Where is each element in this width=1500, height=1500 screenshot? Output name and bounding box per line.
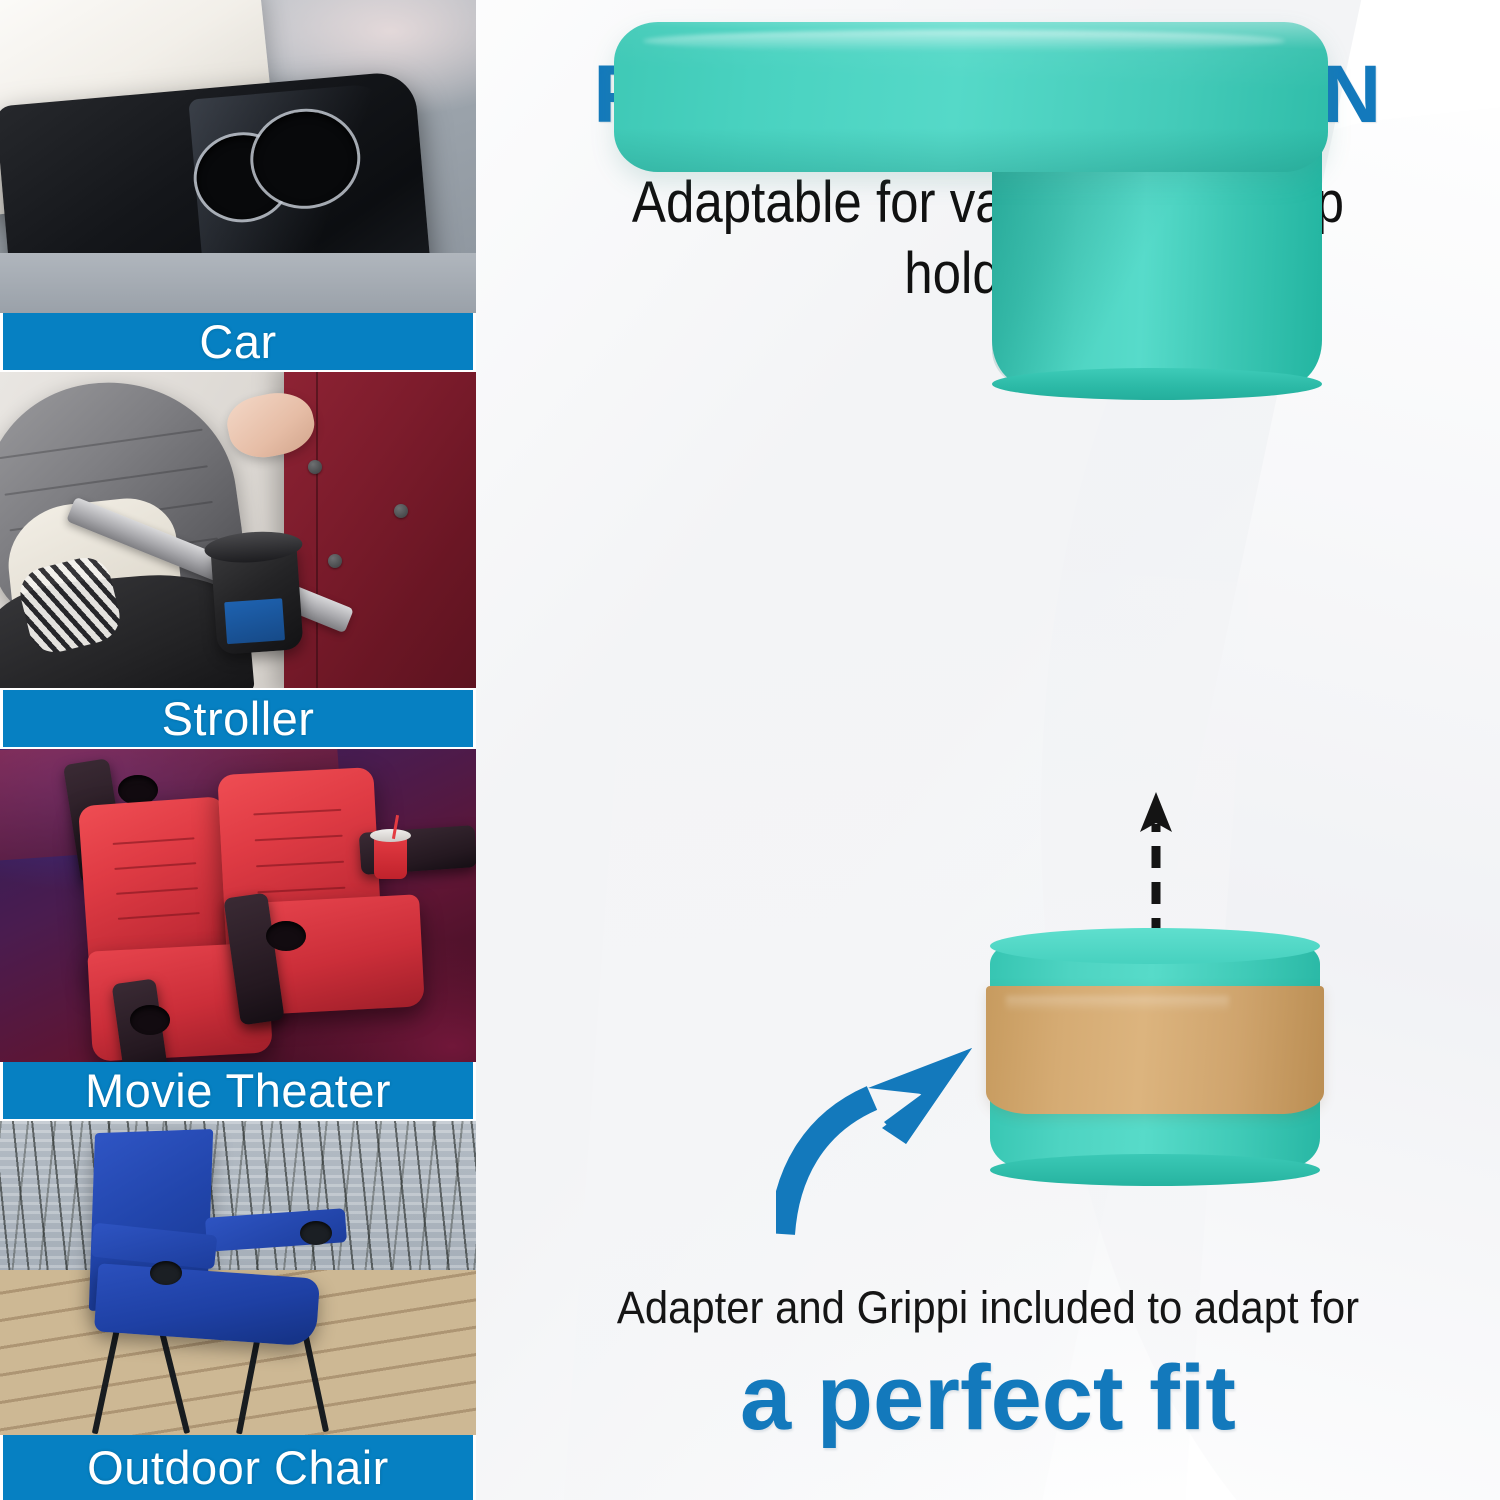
use-case-label-text: Stroller — [162, 691, 315, 746]
use-case-label-text: Car — [199, 314, 276, 369]
stroller-cup-holder — [210, 541, 303, 655]
car-console-photo — [0, 0, 476, 313]
use-case-photo-column: Car — [0, 0, 476, 1500]
product-adapter — [990, 928, 1320, 1186]
callout-arrow-icon — [776, 1036, 1016, 1236]
outdoor-chair-photo — [0, 1121, 476, 1435]
use-case-label-movie-theater: Movie Theater — [3, 1062, 473, 1119]
product-tray — [614, 22, 1328, 414]
theater-drink-cup — [374, 837, 407, 879]
product-panel: PATENTED DESIGN Adaptable for various si… — [476, 0, 1500, 1500]
use-case-label-stroller: Stroller — [3, 690, 473, 747]
use-case-label-text: Movie Theater — [85, 1063, 391, 1118]
assembly-arrow-icon — [1134, 790, 1178, 940]
use-case-label-car: Car — [3, 313, 473, 370]
bottom-caption: Adapter and Grippi included to adapt for — [530, 1283, 1445, 1333]
stroller-photo — [0, 372, 476, 688]
tray-stem — [992, 150, 1322, 386]
bottom-emphasis: a perfect fit — [496, 1348, 1480, 1449]
grippi-band — [986, 986, 1324, 1114]
product-infographic: Car — [0, 0, 1500, 1500]
use-case-movie-theater — [0, 749, 476, 1062]
use-case-stroller — [0, 372, 476, 688]
car-cup-holder — [191, 105, 368, 231]
tray-plate — [614, 22, 1328, 172]
use-case-label-outdoor-chair: Outdoor Chair — [3, 1435, 473, 1500]
use-case-label-text: Outdoor Chair — [87, 1440, 389, 1495]
use-case-car — [0, 0, 476, 313]
theater-seats-photo — [0, 749, 476, 1062]
use-case-outdoor-chair — [0, 1121, 476, 1435]
